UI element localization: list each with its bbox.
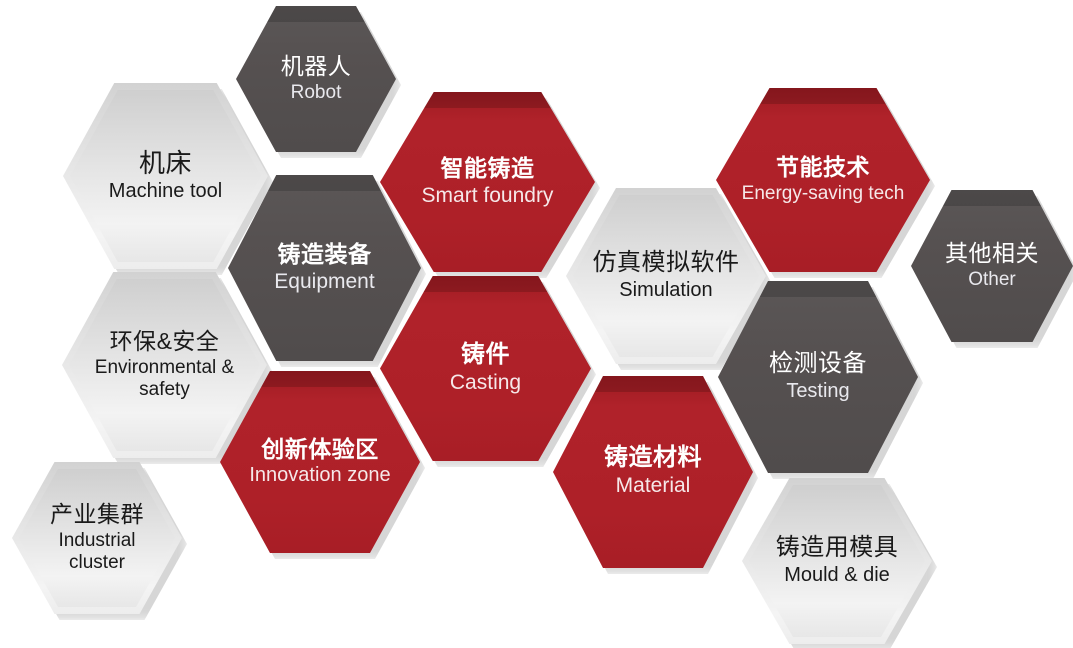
- hex-label-en-robot: Robot: [291, 82, 342, 104]
- hex-label-en-simulation: Simulation: [619, 279, 712, 302]
- hex-label-en-environmental-safety: Environmental & safety: [85, 357, 245, 401]
- hex-label-en-innovation-zone: Innovation zone: [249, 464, 390, 487]
- hex-label-cn-energy-saving-tech: 节能技术: [776, 155, 870, 181]
- hex-label-en-industrial-cluster: Industrial cluster: [31, 530, 164, 574]
- hex-label-en-equipment: Equipment: [274, 270, 374, 294]
- hex-label-cn-machine-tool: 机床: [139, 149, 192, 178]
- hex-label-en-testing: Testing: [786, 380, 849, 403]
- hex-tile-casting[interactable]: 铸件Casting: [380, 276, 591, 461]
- hex-label-cn-material: 铸造材料: [604, 445, 702, 472]
- hex-label-en-other: Other: [968, 269, 1016, 291]
- hex-tile-other[interactable]: 其他相关Other: [911, 190, 1073, 342]
- hex-label-en-machine-tool: Machine tool: [109, 180, 222, 203]
- hex-label-cn-robot: 机器人: [281, 54, 352, 80]
- hex-tile-innovation-zone[interactable]: 创新体验区Innovation zone: [220, 371, 420, 553]
- hex-tile-machine-tool[interactable]: 机床Machine tool: [63, 83, 268, 269]
- hex-label-cn-industrial-cluster: 产业集群: [50, 502, 144, 528]
- hex-label-cn-mould-die: 铸造用模具: [776, 535, 899, 562]
- hex-tile-environmental-safety[interactable]: 环保&安全Environmental & safety: [62, 272, 267, 458]
- hex-label-cn-casting: 铸件: [461, 342, 510, 369]
- hex-tile-smart-foundry[interactable]: 智能铸造Smart foundry: [380, 92, 595, 272]
- hex-tile-material[interactable]: 铸造材料Material: [553, 376, 753, 568]
- hex-tile-equipment[interactable]: 铸造装备Equipment: [228, 175, 421, 361]
- hex-label-cn-innovation-zone: 创新体验区: [261, 437, 379, 463]
- hex-label-cn-simulation: 仿真模拟软件: [593, 250, 740, 277]
- hex-tile-simulation[interactable]: 仿真模拟软件Simulation: [566, 188, 766, 364]
- hex-label-en-mould-die: Mould & die: [784, 564, 890, 587]
- hex-label-cn-other: 其他相关: [945, 241, 1039, 267]
- hex-tile-energy-saving-tech[interactable]: 节能技术Energy-saving tech: [716, 88, 930, 272]
- hex-tile-testing[interactable]: 检测设备Testing: [718, 281, 918, 473]
- hex-label-en-casting: Casting: [450, 371, 521, 395]
- hex-label-cn-equipment: 铸造装备: [278, 242, 372, 268]
- hex-tile-robot[interactable]: 机器人Robot: [236, 6, 396, 152]
- hex-label-en-smart-foundry: Smart foundry: [422, 184, 554, 208]
- hex-tile-mould-die[interactable]: 铸造用模具Mould & die: [742, 478, 932, 644]
- hex-label-en-material: Material: [616, 474, 691, 498]
- hex-label-cn-smart-foundry: 智能铸造: [441, 156, 535, 182]
- hex-label-cn-testing: 检测设备: [769, 351, 867, 378]
- hex-tile-industrial-cluster[interactable]: 产业集群Industrial cluster: [12, 462, 182, 614]
- hex-label-cn-environmental-safety: 环保&安全: [110, 329, 220, 355]
- hexagon-diagram-canvas: 机床Machine tool机器人Robot智能铸造Smart foundry节…: [0, 0, 1073, 648]
- hex-label-en-energy-saving-tech: Energy-saving tech: [742, 183, 905, 205]
